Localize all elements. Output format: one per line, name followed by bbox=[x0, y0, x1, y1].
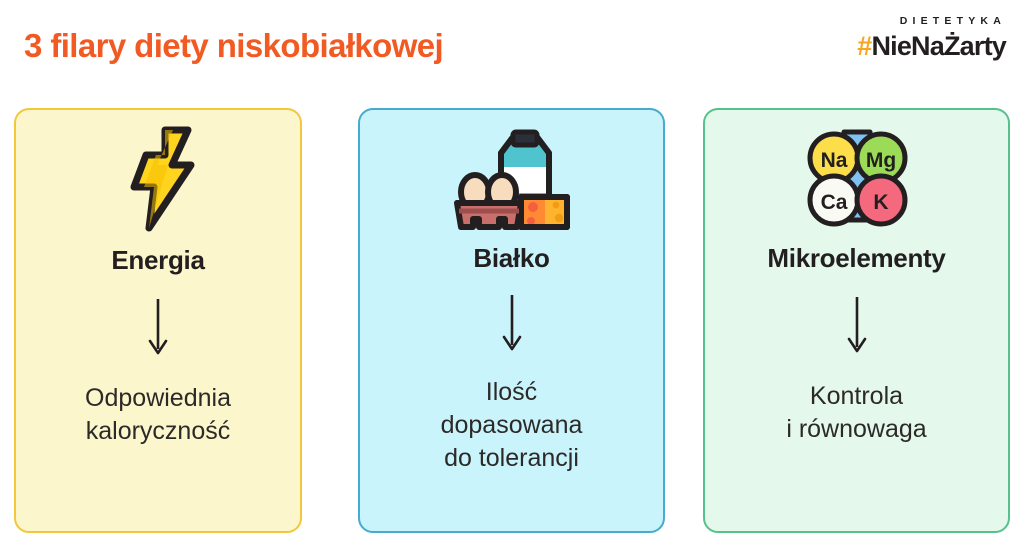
card-title-energia: Energia bbox=[111, 246, 204, 275]
down-arrow-icon bbox=[147, 297, 169, 364]
minerals-icon: Na Mg Ca K bbox=[798, 124, 916, 241]
mineral-label-ca: Ca bbox=[820, 191, 847, 214]
header: 3 filary diety niskobiałkowej DIETETYKA … bbox=[0, 0, 1024, 100]
mineral-label-na: Na bbox=[820, 149, 847, 172]
page-title: 3 filary diety niskobiałkowej bbox=[24, 27, 443, 65]
card-description-bialko: Ilość dopasowana do tolerancji bbox=[427, 376, 597, 475]
card-description-mikroelementy: Kontrola i równowaga bbox=[772, 380, 940, 446]
card-description-energia: Odpowiednia kaloryczność bbox=[71, 382, 245, 448]
icon-container-bialko bbox=[360, 118, 663, 244]
brand-name: #NieNaŻarty bbox=[857, 33, 1006, 60]
pillar-cards: Energia Odpowiednia kaloryczność bbox=[0, 108, 1024, 536]
hash-symbol: # bbox=[857, 31, 871, 61]
card-mikroelementy: Na Mg Ca K Mikroelementy Kontr bbox=[703, 108, 1010, 533]
lightning-bolt-icon bbox=[120, 125, 196, 238]
down-arrow-icon bbox=[501, 293, 523, 360]
icon-container-mikroelementy: Na Mg Ca K bbox=[705, 120, 1008, 244]
brand-kicker: DIETETYKA bbox=[857, 16, 1006, 27]
card-bialko: Białko Ilość dopasowana do tolerancji bbox=[358, 108, 665, 533]
card-title-bialko: Białko bbox=[473, 244, 549, 273]
card-title-mikroelementy: Mikroelementy bbox=[767, 244, 945, 273]
down-arrow-icon bbox=[846, 295, 868, 362]
card-energia: Energia Odpowiednia kaloryczność bbox=[14, 108, 302, 533]
icon-container-energia bbox=[16, 116, 300, 246]
mineral-label-k: K bbox=[873, 191, 888, 214]
mineral-label-mg: Mg bbox=[865, 149, 895, 172]
brand-logo: DIETETYKA #NieNaŻarty bbox=[857, 16, 1006, 60]
brand-name-text: NieNaŻarty bbox=[871, 31, 1006, 61]
dairy-eggs-cheese-icon bbox=[449, 123, 575, 240]
